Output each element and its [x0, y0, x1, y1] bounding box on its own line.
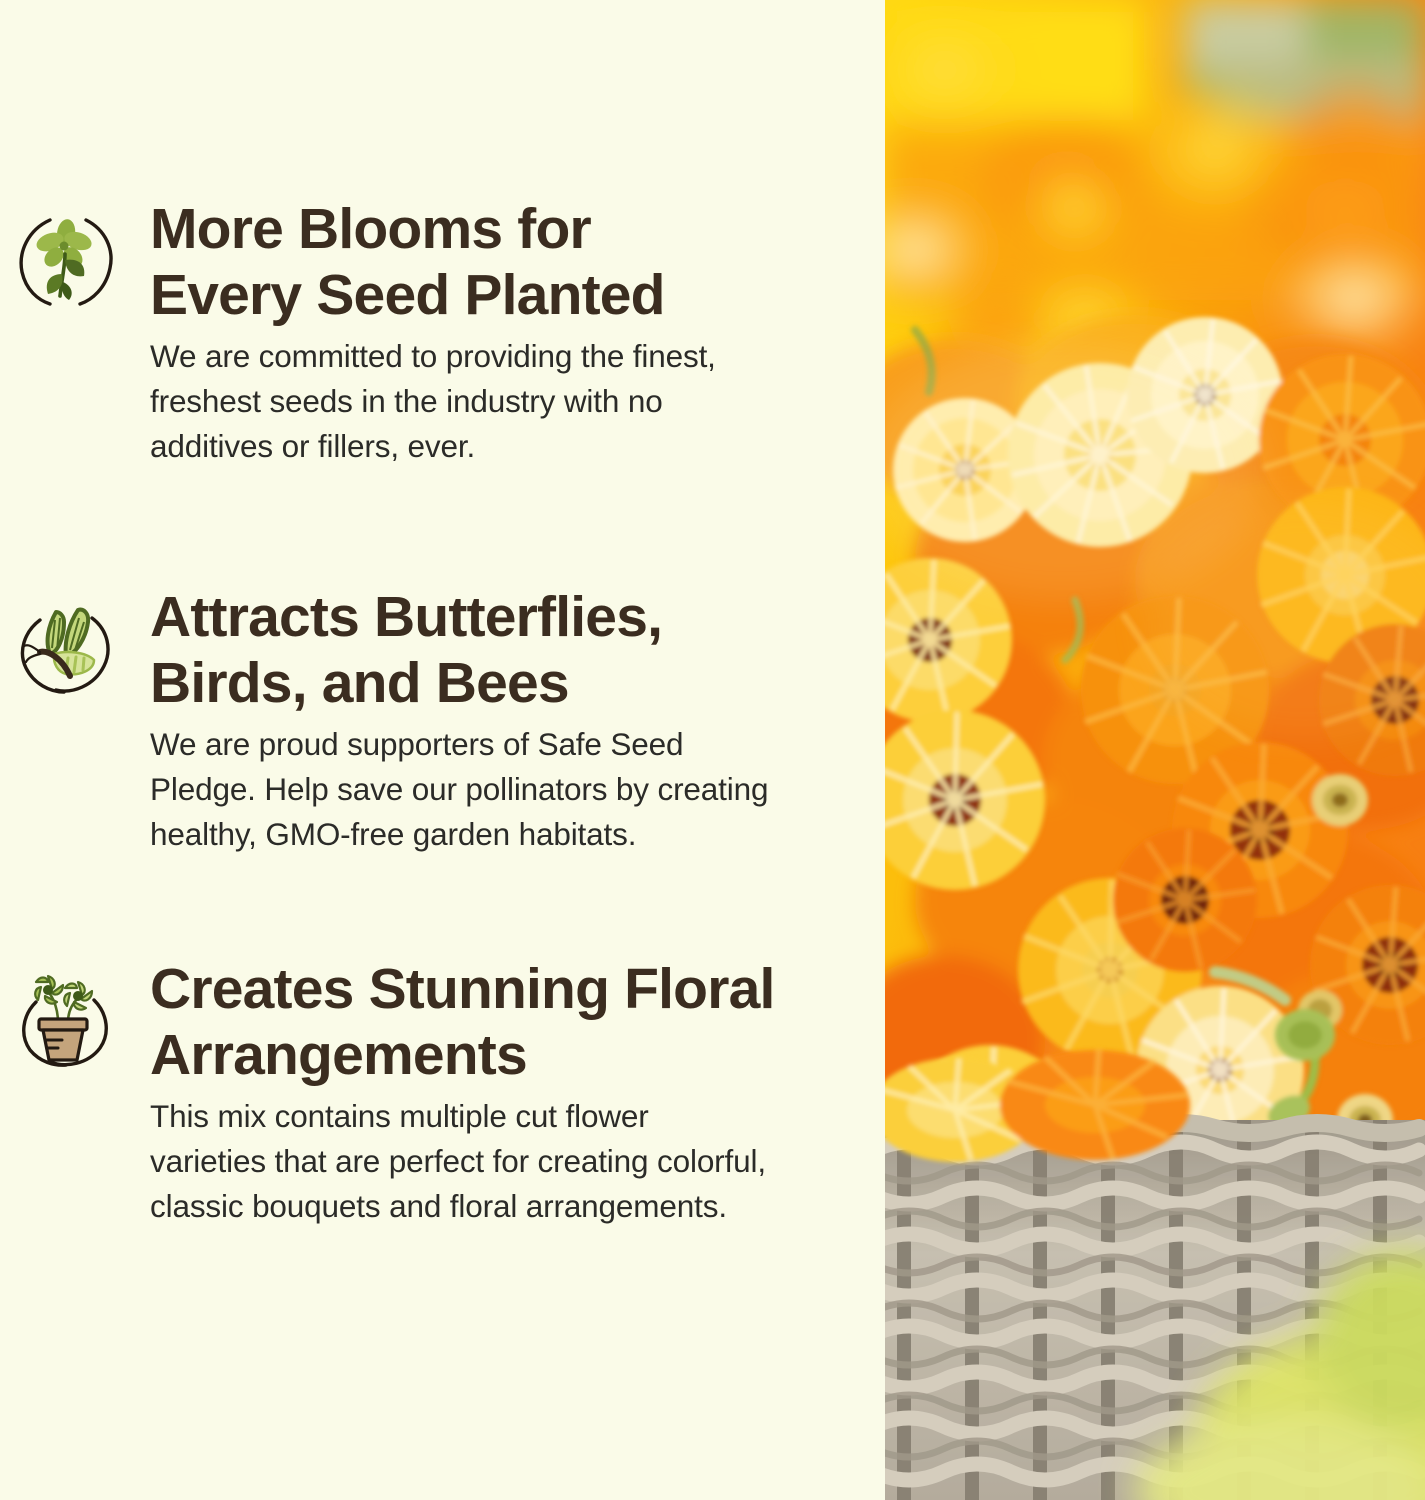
feature-description: We are committed to providing the finest… [150, 334, 850, 469]
feature-description: This mix contains multiple cut flower va… [150, 1094, 880, 1229]
flower-sprout-icon [10, 204, 122, 316]
feature-description: We are proud supporters of Safe Seed Ple… [150, 722, 850, 857]
product-feature-panel: More Blooms for Every Seed Planted We ar… [0, 0, 1425, 1500]
butterfly-icon [10, 592, 122, 704]
feature-title: More Blooms for Every Seed Planted [150, 196, 860, 328]
feature-title: Attracts Butterflies, Birds, and Bees [150, 584, 860, 716]
feature-item: Creates Stunning Floral Arrangements Thi… [0, 956, 885, 1229]
feature-text: Creates Stunning Floral Arrangements Thi… [150, 956, 860, 1229]
feature-text: Attracts Butterflies, Birds, and Bees We… [150, 584, 860, 857]
feature-item: More Blooms for Every Seed Planted We ar… [0, 196, 885, 469]
feature-text: More Blooms for Every Seed Planted We ar… [150, 196, 860, 469]
feature-title: Creates Stunning Floral Arrangements [150, 956, 910, 1088]
potted-flowers-icon [10, 964, 122, 1076]
features-column: More Blooms for Every Seed Planted We ar… [0, 0, 885, 1500]
product-photo [885, 0, 1425, 1500]
feature-item: Attracts Butterflies, Birds, and Bees We… [0, 584, 885, 857]
